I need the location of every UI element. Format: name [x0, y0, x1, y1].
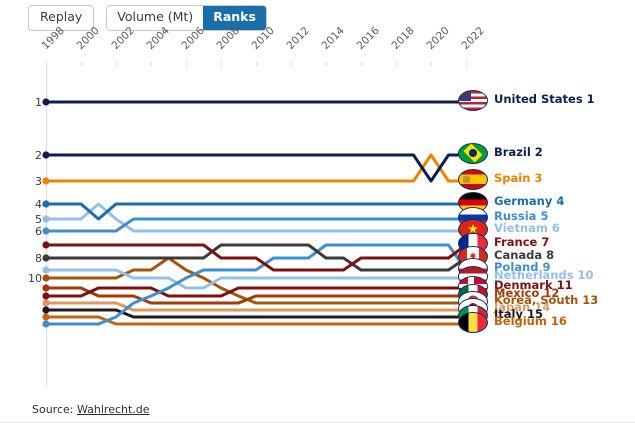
x-axis-tick-label: 2018: [390, 25, 417, 52]
series-line-halo: [46, 270, 466, 288]
flag-br-icon: [458, 143, 488, 164]
series-line[interactable]: [46, 245, 466, 270]
series-line-halo: [46, 288, 466, 296]
series-line[interactable]: [46, 204, 466, 219]
x-axis-tick-label: 2002: [110, 25, 137, 52]
x-axis-tick-mark: [116, 62, 117, 66]
series-line[interactable]: [46, 219, 466, 231]
series-line[interactable]: [46, 155, 466, 181]
series-line-halo: [46, 204, 466, 231]
series-line[interactable]: [46, 204, 466, 231]
legend-item[interactable]: Spain 3: [458, 171, 542, 187]
series-line[interactable]: [46, 303, 466, 310]
flag-es-icon: [458, 169, 488, 190]
series-line[interactable]: [46, 288, 466, 303]
series-line-halo: [46, 245, 466, 270]
legend-item-label: Germany 4: [494, 196, 564, 208]
x-axis-tick-mark: [81, 62, 82, 66]
series-line-halo: [46, 245, 466, 270]
legend-item[interactable]: United States 1: [458, 92, 595, 108]
x-axis-tick-label: 2014: [320, 25, 347, 52]
x-axis-tick-label: 2016: [355, 25, 382, 52]
x-axis-tick-mark: [396, 62, 397, 66]
x-axis-tick-mark: [186, 62, 187, 66]
source-note: Source: Wahlrecht.de: [32, 403, 150, 416]
series-line-halo: [46, 219, 466, 231]
legend-item-label: Vietnam 6: [494, 223, 560, 235]
y-axis-tick-label: 6: [6, 226, 42, 237]
series-line[interactable]: [46, 245, 466, 324]
x-axis-tick-label: 2010: [250, 25, 277, 52]
series-line-halo: [46, 303, 466, 310]
x-axis-tick-mark: [326, 62, 327, 66]
series-line[interactable]: [46, 288, 466, 296]
x-axis-tick-label: 1998: [40, 25, 67, 52]
y-axis-tick-label: 10: [6, 273, 42, 284]
y-axis-tick-label: 8: [6, 253, 42, 264]
series-line-halo: [46, 310, 466, 317]
x-axis-tick-label: 2000: [75, 25, 102, 52]
x-axis-tick-label: 2008: [215, 25, 242, 52]
series-line[interactable]: [46, 310, 466, 317]
rank-race-chart-app: Replay Volume (Mt) Ranks 199820002002200…: [0, 0, 635, 423]
y-axis-tick-label: 4: [6, 199, 42, 210]
series-line-halo: [46, 258, 466, 303]
y-axis-tick-label: 1: [6, 97, 42, 108]
x-axis-tick-mark: [291, 62, 292, 66]
x-axis-tick-label: 2020: [425, 25, 452, 52]
series-line[interactable]: [46, 155, 466, 181]
series-line-halo: [46, 155, 466, 181]
legend: United States 1Brazil 2Spain 3Germany 4R…: [458, 0, 635, 423]
series-line-halo: [46, 317, 466, 324]
x-axis-tick-mark: [221, 62, 222, 66]
y-axis-tick-label: 5: [6, 214, 42, 225]
x-axis-tick-mark: [431, 62, 432, 66]
series-line[interactable]: [46, 258, 466, 303]
series-line-halo: [46, 204, 466, 219]
series-line-halo: [46, 288, 466, 303]
x-axis-tick-mark: [256, 62, 257, 66]
series-line[interactable]: [46, 245, 466, 270]
x-axis-tick-mark: [151, 62, 152, 66]
x-axis-tick-label: 2012: [285, 25, 312, 52]
series-line-halo: [46, 155, 466, 181]
legend-item-label: Brazil 2: [494, 147, 543, 159]
legend-item-label: Belgium 16: [494, 316, 567, 328]
source-prefix: Source:: [32, 403, 77, 416]
y-axis-labels: 123456810: [0, 0, 42, 423]
legend-item[interactable]: Brazil 2: [458, 145, 543, 161]
series-line[interactable]: [46, 317, 466, 324]
legend-item-label: Spain 3: [494, 173, 542, 185]
y-axis-tick-label: 2: [6, 150, 42, 161]
flag-be-icon: [458, 312, 488, 333]
x-axis-tick-mark: [361, 62, 362, 66]
series-line-halo: [46, 245, 466, 324]
flag-us-icon: [458, 90, 488, 111]
x-axis-tick-label: 2004: [145, 25, 172, 52]
legend-item-label: United States 1: [494, 94, 595, 106]
series-line[interactable]: [46, 270, 466, 288]
x-axis-tick-label: 2006: [180, 25, 207, 52]
y-axis-tick-label: 3: [6, 176, 42, 187]
source-link[interactable]: Wahlrecht.de: [77, 403, 150, 416]
legend-item[interactable]: Belgium 16: [458, 314, 567, 330]
y-axis-line: [46, 62, 47, 386]
